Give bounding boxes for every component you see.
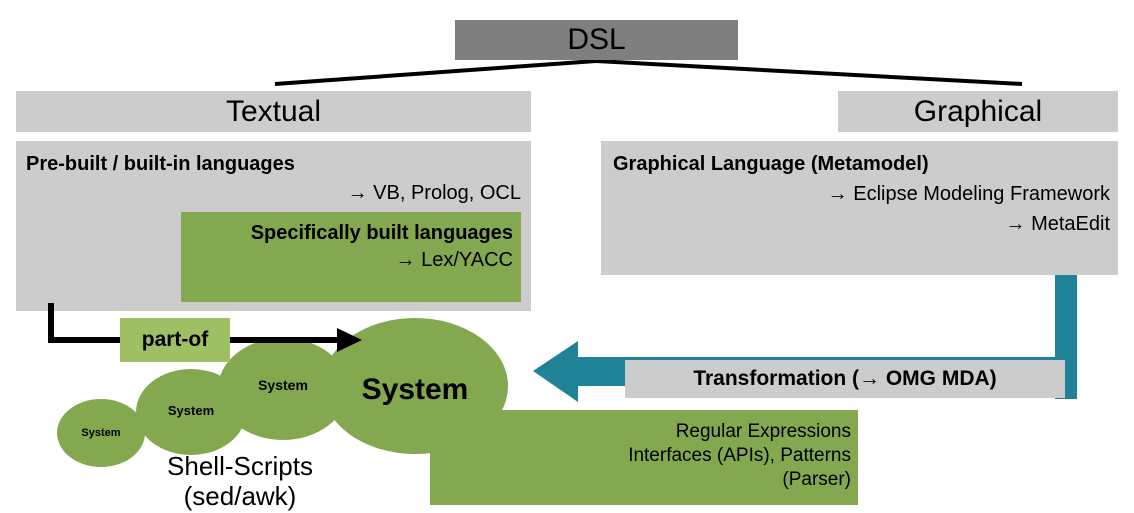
implementation-note-3: (Parser): [782, 468, 851, 492]
system-node-small-label: System: [168, 403, 214, 418]
graphical-language-detail-1: → Eclipse Modeling Framework: [828, 182, 1110, 207]
diagram-canvas: DSL Textual Pre-built / built-in languag…: [0, 0, 1134, 513]
transformation-label: Transformation (→ OMG MDA): [693, 367, 996, 390]
textual-prebuilt-title: Pre-built / built-in languages: [26, 152, 295, 177]
graphical-language-title: Graphical Language (Metamodel): [613, 152, 929, 177]
implementation-note-2: Interfaces (APIs), Patterns: [628, 444, 851, 468]
connector-dsl-to-textual: [275, 61, 596, 84]
implementation-note-1: Regular Expressions: [676, 420, 851, 444]
transformation-label-box: Transformation (→ OMG MDA): [625, 360, 1065, 398]
shell-scripts-caption-line-2: (sed/awk): [184, 481, 297, 512]
branch-header-graphical: Graphical: [838, 91, 1118, 132]
connector-dsl-to-graphical: [596, 61, 1022, 84]
branch-header-graphical-label: Graphical: [914, 95, 1042, 128]
partof-arrowhead: [337, 328, 362, 352]
shell-scripts-caption-line-1: Shell-Scripts: [167, 451, 313, 482]
branch-header-textual-label: Textual: [226, 95, 321, 128]
graphical-language-detail-2: → MetaEdit: [1006, 212, 1110, 237]
partof-label: part-of: [120, 318, 230, 362]
system-node-xsmall-label: System: [81, 427, 120, 440]
branch-header-textual: Textual: [16, 91, 531, 132]
dsl-root-node: DSL: [455, 20, 738, 60]
dsl-root-label: DSL: [567, 23, 625, 56]
system-node-medium-label: System: [258, 377, 308, 393]
system-node-large-label: System: [362, 372, 469, 407]
textual-specifically-built-title: Specifically built languages: [251, 221, 513, 246]
textual-prebuilt-detail: → VB, Prolog, OCL: [348, 181, 521, 206]
textual-specifically-built-detail: → Lex/YACC: [396, 248, 513, 273]
